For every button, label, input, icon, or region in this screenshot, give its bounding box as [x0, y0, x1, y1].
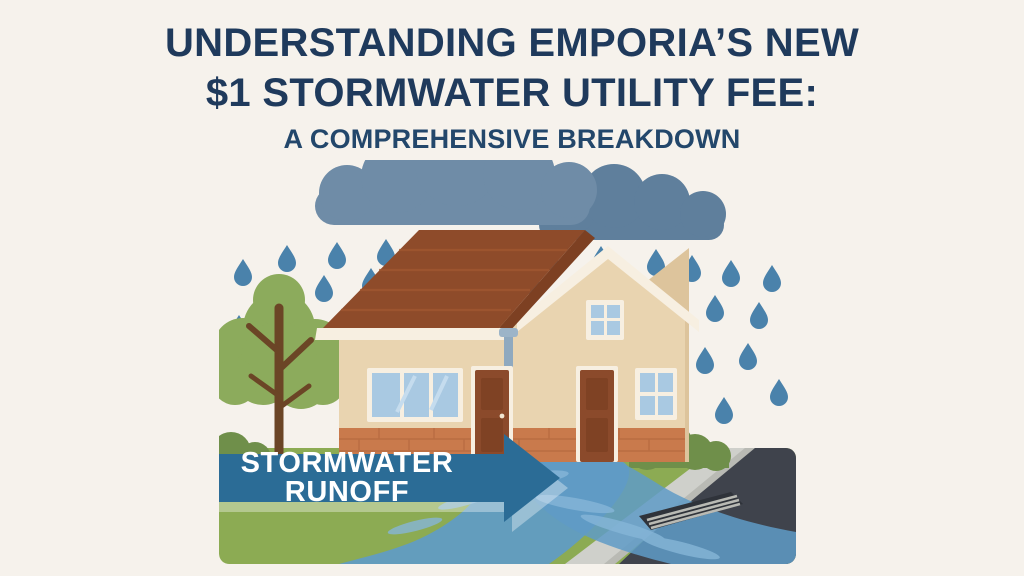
side-window — [635, 368, 677, 420]
stormwater-illustration: STORMWATER RUNOFF — [219, 160, 796, 564]
title-line-1: UNDERSTANDING EMPORIA’S NEW — [0, 18, 1024, 68]
poster-canvas: UNDERSTANDING EMPORIA’S NEW $1 STORMWATE… — [0, 0, 1024, 576]
gable-window — [586, 300, 624, 340]
roof-eave-trim — [315, 328, 509, 340]
page-title: UNDERSTANDING EMPORIA’S NEW $1 STORMWATE… — [0, 18, 1024, 160]
side-door — [576, 366, 618, 462]
banner-line-1: STORMWATER — [241, 447, 454, 479]
title-line-2: $1 STORMWATER UTILITY FEE: — [0, 68, 1024, 118]
picture-window — [367, 368, 463, 422]
page-subtitle: A COMPREHENSIVE BREAKDOWN — [0, 118, 1024, 160]
rain-cloud — [315, 160, 726, 240]
banner-line-2: RUNOFF — [285, 476, 409, 508]
house — [315, 230, 699, 464]
